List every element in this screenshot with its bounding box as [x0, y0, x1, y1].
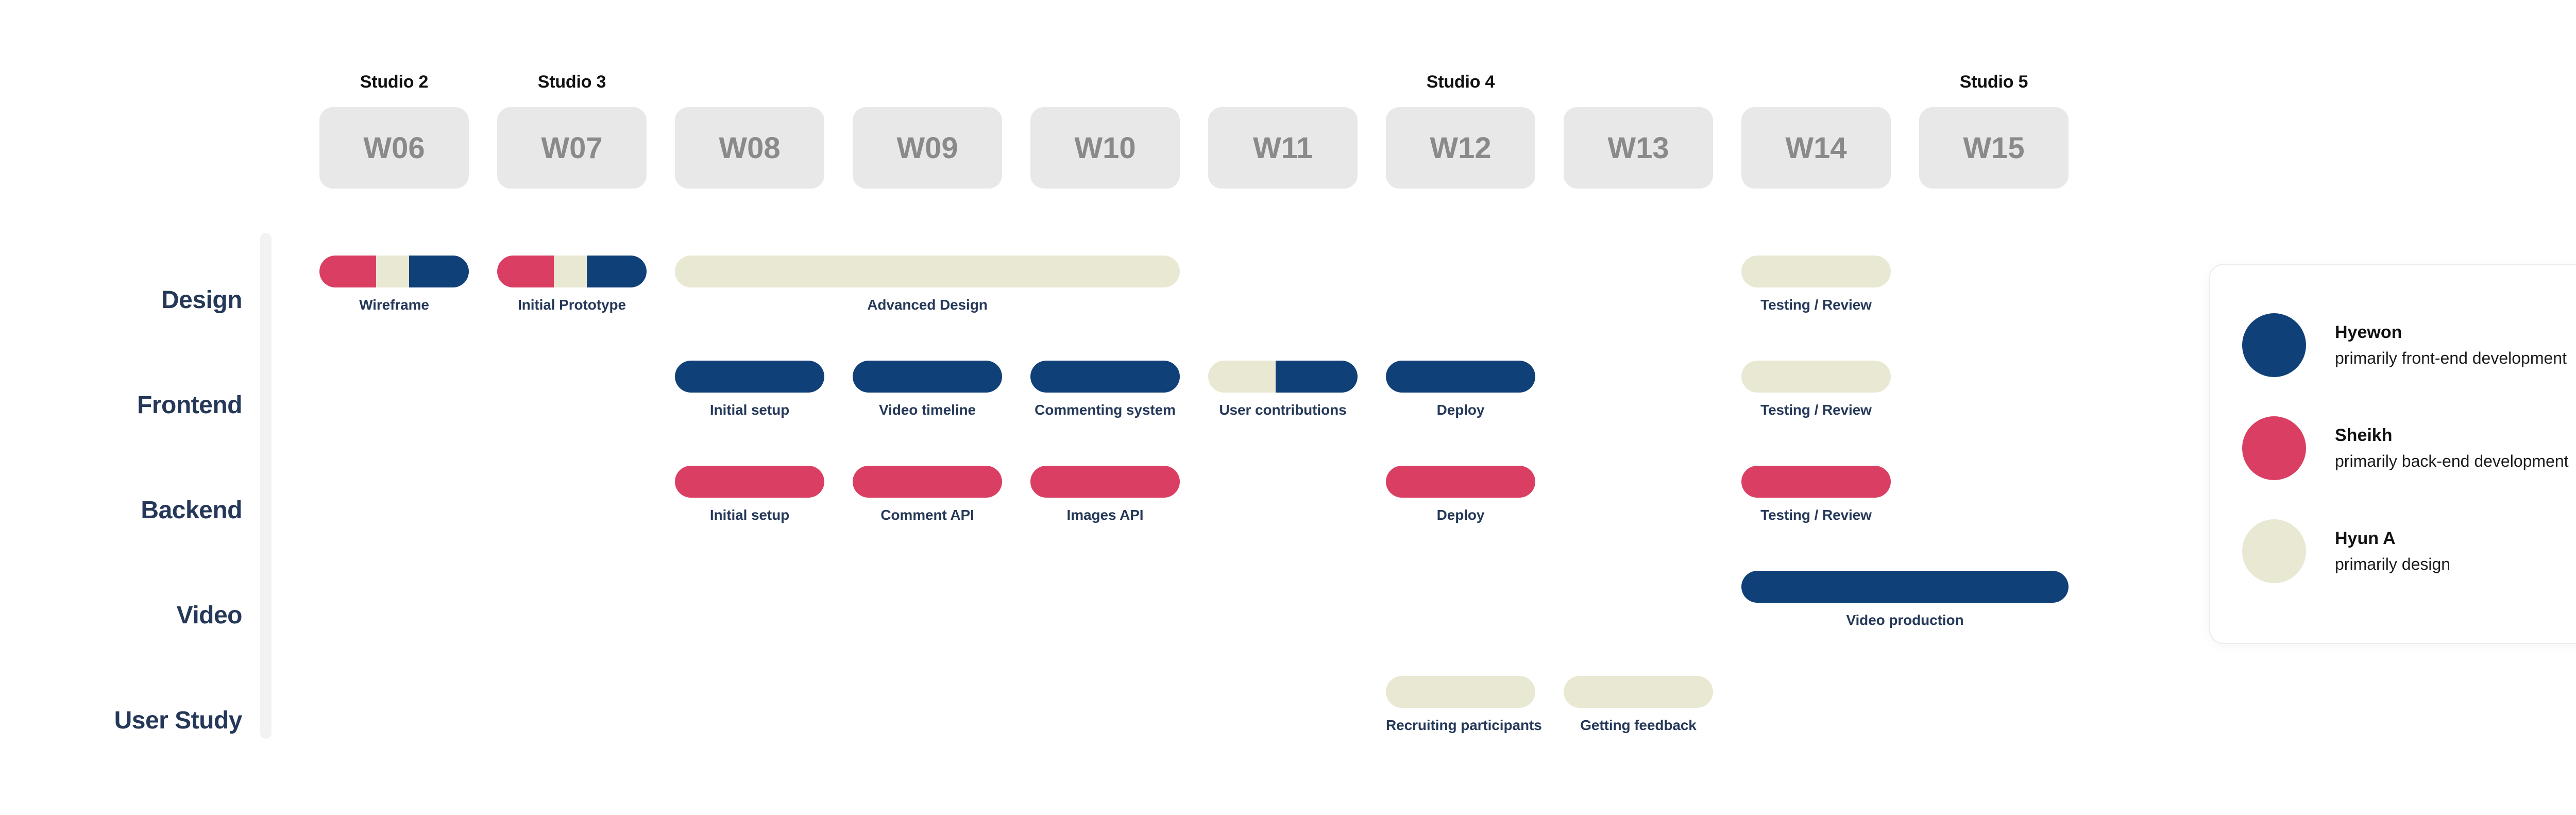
task-segment-sheikh	[853, 466, 1002, 498]
week-chip-w07[interactable]: W07	[497, 107, 647, 189]
week-chip-label: W07	[541, 131, 602, 165]
legend-item-description: primarily back-end development	[2335, 452, 2569, 471]
row-label-video: Video	[0, 601, 242, 630]
task-testing-review[interactable]: Testing / Review	[1741, 256, 1891, 313]
week-chip-w10[interactable]: W10	[1030, 107, 1180, 189]
task-segment-hyewon	[675, 361, 824, 393]
task-images-api[interactable]: Images API	[1030, 466, 1180, 523]
task-segment-hyewon	[1030, 361, 1180, 393]
task-caption: Video timeline	[853, 402, 1002, 418]
task-caption: Getting feedback	[1564, 717, 1713, 734]
task-initial-setup[interactable]: Initial setup	[675, 466, 824, 523]
task-segment-hyun-a	[1741, 361, 1891, 393]
task-caption: Advanced Design	[675, 297, 1180, 313]
task-initial-prototype[interactable]: Initial Prototype	[497, 256, 647, 313]
row-label-backend: Backend	[0, 496, 242, 524]
task-caption: Video production	[1741, 612, 2069, 629]
week-chip-label: W10	[1074, 131, 1136, 165]
studio-marker-studio-5: Studio 5	[1919, 72, 2069, 92]
legend-item-name: Hyewon	[2335, 322, 2567, 343]
task-bar[interactable]	[1741, 571, 2069, 603]
task-commenting-system[interactable]: Commenting system	[1030, 361, 1180, 418]
timeline-rail-divider	[260, 233, 272, 739]
week-chip-label: W14	[1785, 131, 1846, 165]
task-getting-feedback[interactable]: Getting feedback	[1564, 676, 1713, 734]
legend-item-name: Hyun A	[2335, 529, 2450, 549]
task-recruiting-participants[interactable]: Recruiting participants	[1386, 676, 1535, 734]
task-segment-hyewon	[1386, 361, 1535, 393]
task-bar[interactable]	[1208, 361, 1358, 393]
task-bar[interactable]	[1030, 466, 1180, 498]
task-testing-review[interactable]: Testing / Review	[1741, 361, 1891, 418]
studio-marker-studio-3: Studio 3	[497, 72, 647, 92]
task-segment-sheikh	[675, 466, 824, 498]
task-segment-hyun-a	[376, 256, 409, 287]
task-caption: Initial setup	[675, 402, 824, 418]
week-chip-w12[interactable]: W12	[1386, 107, 1535, 189]
task-bar[interactable]	[1386, 676, 1535, 708]
task-segment-hyun-a	[1386, 676, 1535, 708]
task-segment-hyewon	[1276, 361, 1358, 393]
week-chip-w15[interactable]: W15	[1919, 107, 2069, 189]
task-wireframe[interactable]: Wireframe	[319, 256, 469, 313]
task-bar[interactable]	[497, 256, 647, 287]
task-advanced-design[interactable]: Advanced Design	[675, 256, 1180, 313]
legend-color-swatch-icon	[2242, 519, 2306, 583]
legend-item-name: Sheikh	[2335, 426, 2569, 446]
task-segment-sheikh	[1386, 466, 1535, 498]
task-segment-hyun-a	[1208, 361, 1276, 393]
task-segment-hyewon	[409, 256, 469, 287]
task-caption: Initial Prototype	[497, 297, 647, 313]
legend-item-description: primarily front-end development	[2335, 349, 2567, 368]
legend-color-swatch-icon	[2242, 416, 2306, 480]
task-bar[interactable]	[1386, 361, 1535, 393]
task-caption: Recruiting participants	[1386, 717, 1535, 734]
task-bar[interactable]	[675, 361, 824, 393]
task-segment-sheikh	[1741, 466, 1891, 498]
task-segment-hyun-a	[1564, 676, 1713, 708]
week-chip-w08[interactable]: W08	[675, 107, 824, 189]
task-caption: Testing / Review	[1741, 297, 1891, 313]
studio-marker-studio-4: Studio 4	[1386, 72, 1535, 92]
task-segment-hyewon	[587, 256, 647, 287]
week-chip-w14[interactable]: W14	[1741, 107, 1891, 189]
week-chip-label: W06	[363, 131, 425, 165]
legend-item-sheikh[interactable]: Sheikhprimarily back-end development	[2210, 397, 2576, 500]
week-chip-w09[interactable]: W09	[853, 107, 1002, 189]
task-bar[interactable]	[675, 256, 1180, 287]
task-user-contributions[interactable]: User contributions	[1208, 361, 1358, 418]
task-caption: Initial setup	[675, 507, 824, 523]
task-deploy[interactable]: Deploy	[1386, 466, 1535, 523]
task-segment-sheikh	[319, 256, 376, 287]
row-label-design: Design	[0, 286, 242, 314]
task-bar[interactable]	[319, 256, 469, 287]
task-segment-sheikh	[497, 256, 554, 287]
task-caption: Comment API	[853, 507, 1002, 523]
legend-item-text: Hyun Aprimarily design	[2335, 529, 2450, 574]
task-segment-hyewon	[1741, 571, 2069, 603]
task-caption: Testing / Review	[1741, 402, 1891, 418]
task-bar[interactable]	[1741, 466, 1891, 498]
legend-item-text: Sheikhprimarily back-end development	[2335, 426, 2569, 471]
task-caption: Wireframe	[319, 297, 469, 313]
week-chip-w13[interactable]: W13	[1564, 107, 1713, 189]
task-segment-hyewon	[853, 361, 1002, 393]
task-comment-api[interactable]: Comment API	[853, 466, 1002, 523]
task-caption: User contributions	[1208, 402, 1358, 418]
legend-item-description: primarily design	[2335, 555, 2450, 574]
task-segment-hyun-a	[675, 256, 1180, 287]
task-caption: Testing / Review	[1741, 507, 1891, 523]
row-label-frontend: Frontend	[0, 391, 242, 419]
legend-item-text: Hyewonprimarily front-end development	[2335, 322, 2567, 368]
week-chip-label: W15	[1963, 131, 2024, 165]
week-chip-label: W09	[896, 131, 958, 165]
week-chip-w11[interactable]: W11	[1208, 107, 1358, 189]
week-chip-label: W13	[1607, 131, 1669, 165]
task-video-timeline[interactable]: Video timeline	[853, 361, 1002, 418]
task-bar[interactable]	[1386, 466, 1535, 498]
task-caption: Deploy	[1386, 402, 1535, 418]
studio-marker-studio-2: Studio 2	[319, 72, 469, 92]
task-deploy[interactable]: Deploy	[1386, 361, 1535, 418]
legend-color-swatch-icon	[2242, 313, 2306, 377]
task-caption: Images API	[1030, 507, 1180, 523]
task-bar[interactable]	[1564, 676, 1713, 708]
task-bar[interactable]	[1741, 361, 1891, 393]
week-chip-label: W12	[1430, 131, 1491, 165]
task-testing-review[interactable]: Testing / Review	[1741, 466, 1891, 523]
row-label-user-study: User Study	[0, 706, 242, 735]
task-segment-sheikh	[1030, 466, 1180, 498]
task-bar[interactable]	[853, 361, 1002, 393]
task-video-production[interactable]: Video production	[1741, 571, 2069, 629]
task-bar[interactable]	[1030, 361, 1180, 393]
week-chip-label: W11	[1253, 131, 1313, 165]
task-caption: Deploy	[1386, 507, 1535, 523]
task-bar[interactable]	[675, 466, 824, 498]
timeline-canvas: Studio 2Studio 3Studio 4Studio 5 W06W07W…	[0, 0, 2576, 815]
task-bar[interactable]	[853, 466, 1002, 498]
task-segment-hyun-a	[554, 256, 587, 287]
task-caption: Commenting system	[1030, 402, 1180, 418]
task-bar[interactable]	[1741, 256, 1891, 287]
task-segment-hyun-a	[1741, 256, 1891, 287]
legend-panel: Hyewonprimarily front-end developmentShe…	[2209, 264, 2576, 644]
legend-item-hyun-a[interactable]: Hyun Aprimarily design	[2210, 500, 2576, 603]
week-chip-label: W08	[719, 131, 780, 165]
task-initial-setup[interactable]: Initial setup	[675, 361, 824, 418]
week-chip-w06[interactable]: W06	[319, 107, 469, 189]
legend-item-hyewon[interactable]: Hyewonprimarily front-end development	[2210, 294, 2576, 397]
